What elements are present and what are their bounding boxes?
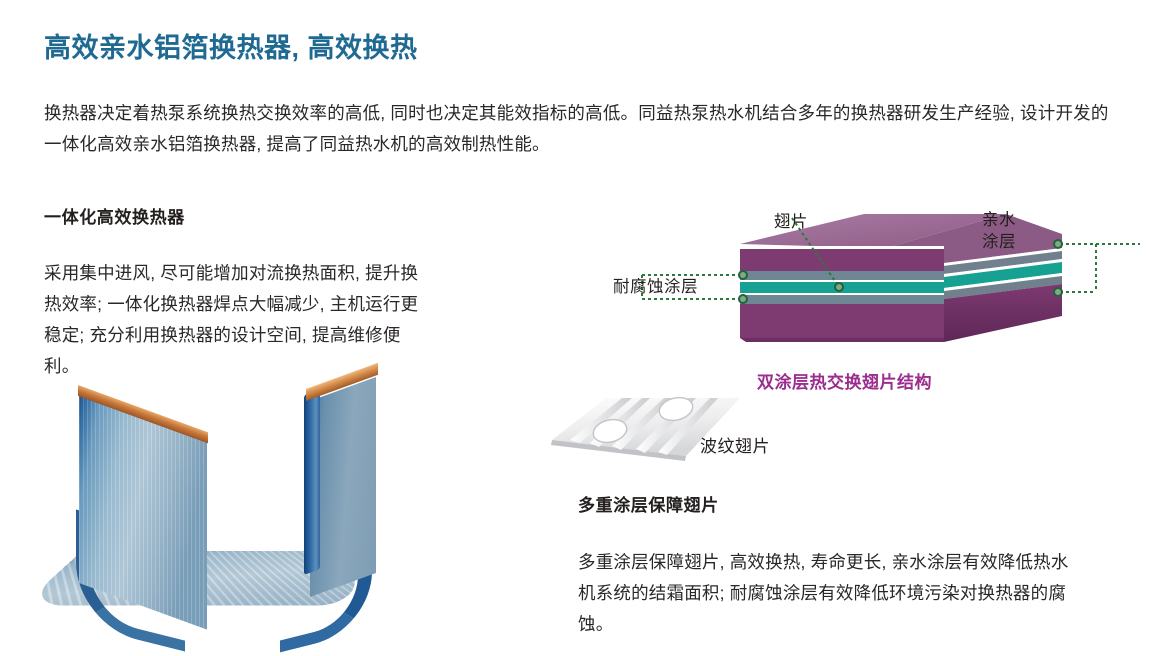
heat-exchanger-illustration — [52, 383, 430, 638]
diagram-label-hydrophilic-coating: 亲水 涂层 — [982, 209, 1016, 253]
corrugated-fin-label: 波纹翅片 — [700, 432, 770, 457]
anticorrosion-dot-upper — [739, 271, 747, 279]
slab-gap-1 — [740, 246, 944, 249]
slab-purple-lower — [740, 304, 944, 338]
diagram-caption: 双涂层热交换翅片结构 — [757, 368, 932, 393]
hydrophilic-dot-upper — [1054, 240, 1062, 248]
slab-purple-upper — [740, 249, 944, 271]
left-section-body: 采用集中进风, 尽可能增加对流换热面积, 提升换热效率; 一体化换热器焊点大幅减… — [44, 258, 419, 382]
slab-gap-3 — [740, 293, 944, 295]
intro-paragraph: 换热器决定着热泵系统换热交换效率的高低, 同时也决定其能效指标的高低。同益热泵热… — [44, 98, 1119, 160]
anticorrosion-dot-lower — [739, 295, 747, 303]
right-section-heading: 多重涂层保障翅片 — [578, 491, 719, 516]
slab-gap-2 — [740, 280, 944, 282]
right-section-body: 多重涂层保障翅片, 高效换热, 寿命更长, 亲水涂层有效降低热水机系统的结霜面积… — [578, 547, 1078, 640]
exchanger-right-edge — [304, 389, 320, 575]
fin-pointer-dot — [835, 283, 843, 291]
slab-grayblue-lower — [740, 295, 944, 304]
u-shaped-heat-exchanger-photo — [52, 383, 430, 638]
slab-grayblue-upper — [740, 271, 944, 280]
hydrophilic-dot-lower — [1054, 288, 1062, 296]
left-section-heading: 一体化高效换热器 — [44, 203, 185, 228]
diagram-label-anticorrosion-coating: 耐腐蚀涂层 — [613, 276, 698, 298]
slab-bottom-bevel — [740, 338, 944, 342]
page-title: 高效亲水铝箔换热器, 高效换热 — [44, 26, 418, 65]
diagram-label-fin: 翅片 — [774, 211, 808, 233]
